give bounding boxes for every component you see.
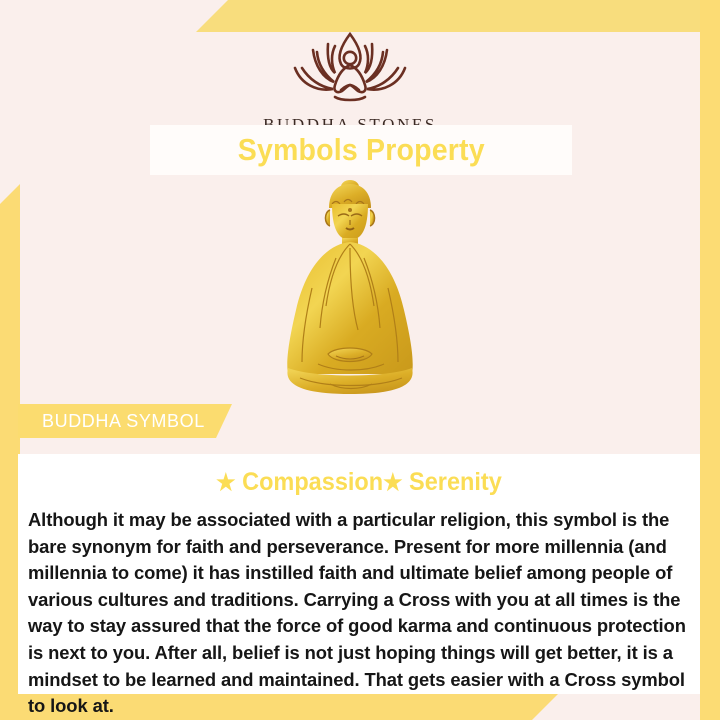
frame-right-accent xyxy=(700,0,720,720)
hero-image-container xyxy=(0,180,700,405)
keyword-compassion: Compassion xyxy=(242,468,383,496)
title-plate: Symbols Property xyxy=(150,125,572,175)
poster-root: BUDDHA STONES Symbols Property xyxy=(0,0,720,720)
keywords-row: ★ Compassion★ Serenity xyxy=(38,468,679,497)
description-paragraph: Although it may be associated with a par… xyxy=(28,507,692,720)
golden-seated-buddha-statue-icon xyxy=(266,178,434,405)
keyword-serenity: Serenity xyxy=(409,468,502,496)
content-panel: ★ Compassion★ Serenity Although it may b… xyxy=(18,454,700,694)
star-icon-one: ★ xyxy=(216,469,235,495)
category-banner: BUDDHA SYMBOL xyxy=(18,404,232,438)
star-icon-two: ★ xyxy=(383,469,402,495)
lotus-meditation-icon xyxy=(0,28,700,111)
brand-logo: BUDDHA STONES xyxy=(0,28,700,135)
category-banner-label: BUDDHA SYMBOL xyxy=(42,411,205,432)
page-title: Symbols Property xyxy=(237,132,484,168)
